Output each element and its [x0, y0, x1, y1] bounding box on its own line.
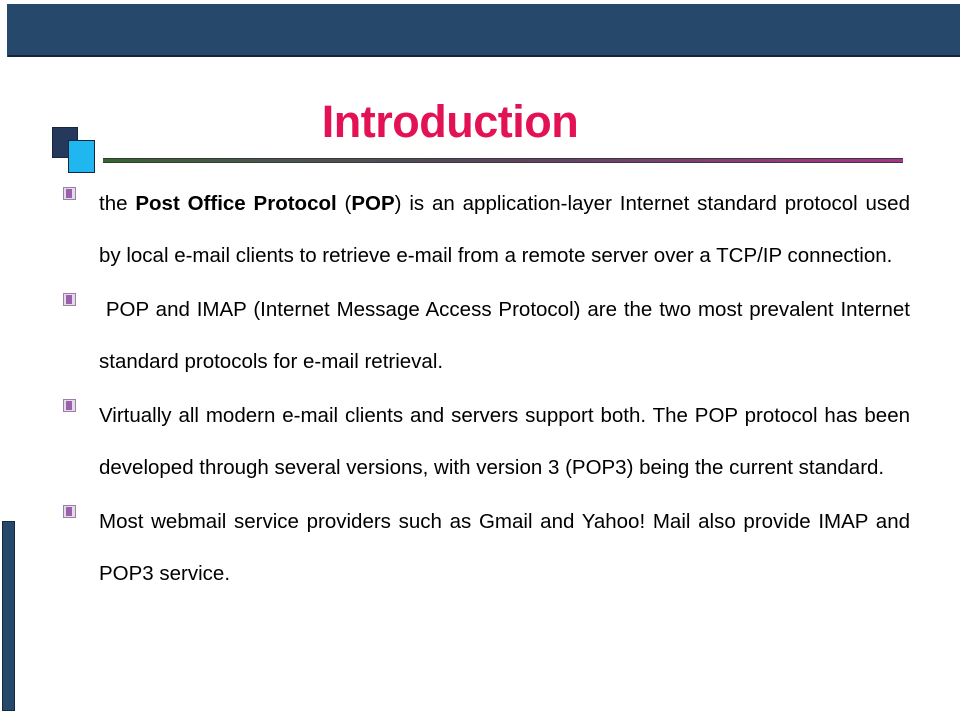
left-accent-bar — [2, 521, 15, 711]
list-item: POP and IMAP (Internet Message Access Pr… — [60, 284, 910, 388]
list-item-text: Virtually all modern e-mail clients and … — [99, 390, 910, 494]
square-bullet-icon — [63, 399, 76, 412]
square-bullet-icon — [63, 187, 76, 200]
bullet-list: the Post Office Protocol (POP) is an app… — [60, 178, 910, 600]
slide-header-banner — [8, 4, 960, 57]
list-item: the Post Office Protocol (POP) is an app… — [60, 178, 910, 282]
page-title: Introduction — [0, 96, 900, 148]
banner-left-edge — [0, 4, 8, 57]
list-item: Virtually all modern e-mail clients and … — [60, 390, 910, 494]
presentation-slide: Introduction the Post Office Protocol (P… — [0, 0, 960, 720]
title-divider-rule — [103, 158, 903, 163]
square-bullet-icon — [63, 293, 76, 306]
square-bullet-icon — [63, 505, 76, 518]
list-item: Most webmail service providers such as G… — [60, 496, 910, 600]
list-item-text: Most webmail service providers such as G… — [99, 496, 910, 600]
list-item-text: POP and IMAP (Internet Message Access Pr… — [99, 284, 910, 388]
title-area: Introduction — [0, 96, 960, 168]
list-item-text: the Post Office Protocol (POP) is an app… — [99, 178, 910, 282]
